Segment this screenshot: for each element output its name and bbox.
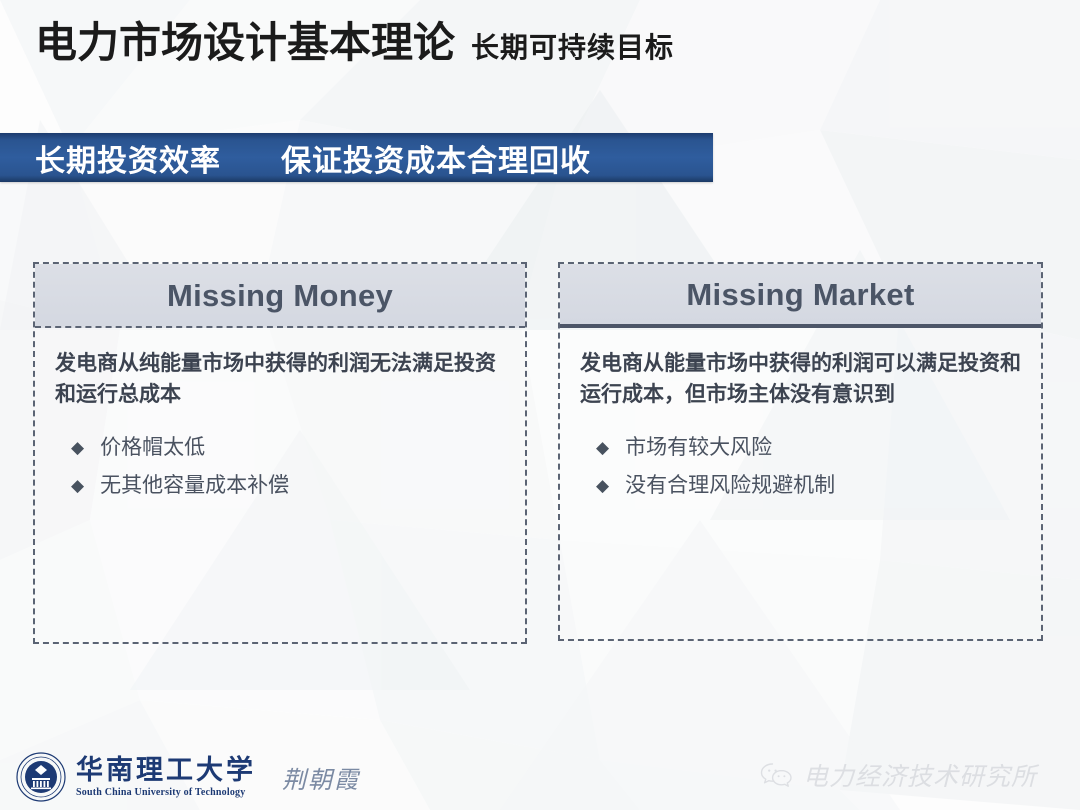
list-item: ◆ 市场有较大风险	[580, 432, 1023, 464]
banner-left-label: 长期投资效率	[35, 136, 221, 180]
university-name-en: South China University of Technology	[76, 788, 256, 798]
panel-body-missing-market: 发电商从能量市场中获得的利润可以满足投资和运行成本，但市场主体没有意识到 ◆ 市…	[560, 328, 1041, 501]
panel-body-missing-money: 发电商从纯能量市场中获得的利润无法满足投资和运行总成本 ◆ 价格帽太低 ◆ 无其…	[35, 328, 525, 501]
panel-lead-text: 发电商从纯能量市场中获得的利润无法满足投资和运行总成本	[55, 348, 507, 410]
university-name-cn: 华南理工大学	[76, 757, 256, 784]
scut-emblem-icon	[16, 752, 66, 802]
diamond-bullet-icon: ◆	[596, 439, 609, 456]
bullet-label: 市场有较大风险	[625, 432, 772, 464]
bullet-label: 无其他容量成本补偿	[100, 470, 289, 502]
bullet-list: ◆ 价格帽太低 ◆ 无其他容量成本补偿	[55, 432, 507, 501]
panel-header-missing-market: Missing Market	[560, 264, 1041, 328]
diamond-bullet-icon: ◆	[71, 439, 84, 456]
wechat-watermark: 电力经济技术研究所	[760, 762, 1037, 790]
bullet-list: ◆ 市场有较大风险 ◆ 没有合理风险规避机制	[580, 432, 1023, 501]
author-signature: 荆朝霞	[282, 760, 360, 795]
list-item: ◆ 价格帽太低	[55, 432, 507, 464]
panel-missing-money: Missing Money 发电商从纯能量市场中获得的利润无法满足投资和运行总成…	[33, 262, 527, 644]
panel-missing-market: Missing Market 发电商从能量市场中获得的利润可以满足投资和运行成本…	[558, 262, 1043, 641]
title-main-text: 电力市场设计基本理论	[35, 22, 455, 64]
section-banner: 长期投资效率 保证投资成本合理回收	[0, 133, 713, 182]
watermark-label: 电力经济技术研究所	[803, 764, 1037, 789]
page-title: 电力市场设计基本理论 长期可持续目标	[35, 22, 674, 64]
list-item: ◆ 没有合理风险规避机制	[580, 470, 1023, 502]
diamond-bullet-icon: ◆	[71, 477, 84, 494]
diamond-bullet-icon: ◆	[596, 477, 609, 494]
title-subtitle-text: 长期可持续目标	[471, 34, 674, 62]
list-item: ◆ 无其他容量成本补偿	[55, 470, 507, 502]
panel-header-missing-money: Missing Money	[35, 264, 525, 328]
slide-canvas: 电力市场设计基本理论 长期可持续目标 长期投资效率 保证投资成本合理回收 Mis…	[0, 0, 1080, 810]
banner-right-label: 保证投资成本合理回收	[281, 136, 591, 180]
panel-lead-text: 发电商从能量市场中获得的利润可以满足投资和运行成本，但市场主体没有意识到	[580, 348, 1023, 410]
footer-branding: 华南理工大学 South China University of Technol…	[16, 752, 360, 802]
university-name-block: 华南理工大学 South China University of Technol…	[76, 757, 256, 798]
bullet-label: 没有合理风险规避机制	[625, 470, 835, 502]
wechat-icon	[760, 762, 794, 790]
panel-title-text: Missing Money	[167, 280, 393, 311]
bullet-label: 价格帽太低	[100, 432, 205, 464]
panel-title-text: Missing Market	[686, 279, 914, 310]
